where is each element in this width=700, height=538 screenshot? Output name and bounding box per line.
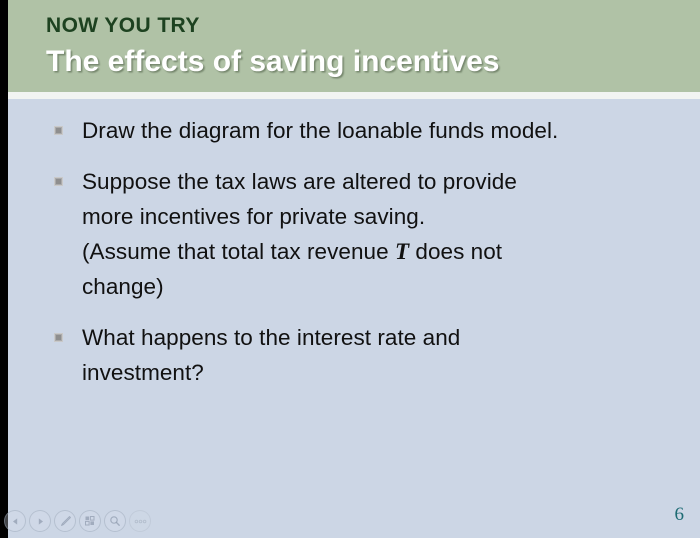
square-bullet-icon	[54, 333, 63, 342]
magnifier-icon	[109, 515, 121, 527]
pen-tool-button[interactable]	[54, 510, 76, 532]
page-title: The effects of saving incentives	[46, 45, 499, 80]
slide-header-band: NOW YOU TRY The effects of saving incent…	[8, 0, 700, 92]
header-divider	[8, 92, 700, 99]
slide-body: Draw the diagram for the loanable funds …	[8, 99, 700, 538]
emphasized-variable-T: T	[395, 239, 409, 264]
square-bullet-icon	[54, 126, 63, 135]
slide-page-number: 6	[675, 504, 685, 526]
previous-slide-button[interactable]	[4, 510, 26, 532]
slide-eyebrow-label: NOW YOU TRY	[46, 15, 200, 36]
triangle-right-icon	[36, 517, 45, 526]
grid-icon	[84, 515, 96, 527]
list-item: Suppose the tax laws are altered to prov…	[52, 164, 682, 304]
next-slide-button[interactable]	[29, 510, 51, 532]
slide-menu-button[interactable]	[79, 510, 101, 532]
list-item: What happens to the interest rate and in…	[52, 320, 682, 390]
zoom-button[interactable]	[104, 510, 126, 532]
ellipsis-icon	[134, 519, 147, 524]
left-edge-gutter	[0, 0, 8, 538]
list-item-text: What happens to the interest rate and in…	[82, 320, 682, 390]
pen-icon	[59, 515, 72, 528]
presentation-slide: NOW YOU TRY The effects of saving incent…	[8, 0, 700, 538]
square-bullet-icon	[54, 177, 63, 186]
list-item-text: Draw the diagram for the loanable funds …	[82, 113, 682, 148]
slide-control-bar	[4, 510, 151, 532]
list-item: Draw the diagram for the loanable funds …	[52, 113, 682, 148]
more-options-button[interactable]	[129, 510, 151, 532]
list-item-text: Suppose the tax laws are altered to prov…	[82, 164, 682, 304]
triangle-left-icon	[11, 517, 20, 526]
